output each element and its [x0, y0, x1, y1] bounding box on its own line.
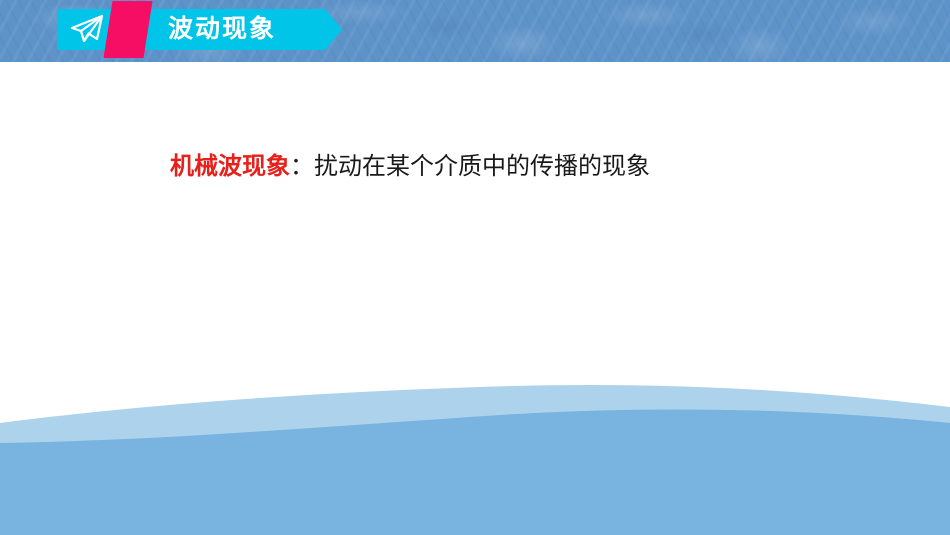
bottom-wave-decoration [0, 365, 950, 535]
slide-title: 波动现象 [168, 9, 318, 50]
slide-canvas: 波动现象 机械波现象：扰动在某个介质中的传播的现象 [0, 0, 950, 535]
paper-plane-icon [66, 12, 106, 48]
header-band: 波动现象 [0, 0, 950, 62]
definition-line: 机械波现象：扰动在某个介质中的传播的现象 [170, 150, 650, 184]
definition-term: 机械波现象 [170, 153, 290, 180]
definition-text: ：扰动在某个介质中的传播的现象 [290, 153, 650, 180]
